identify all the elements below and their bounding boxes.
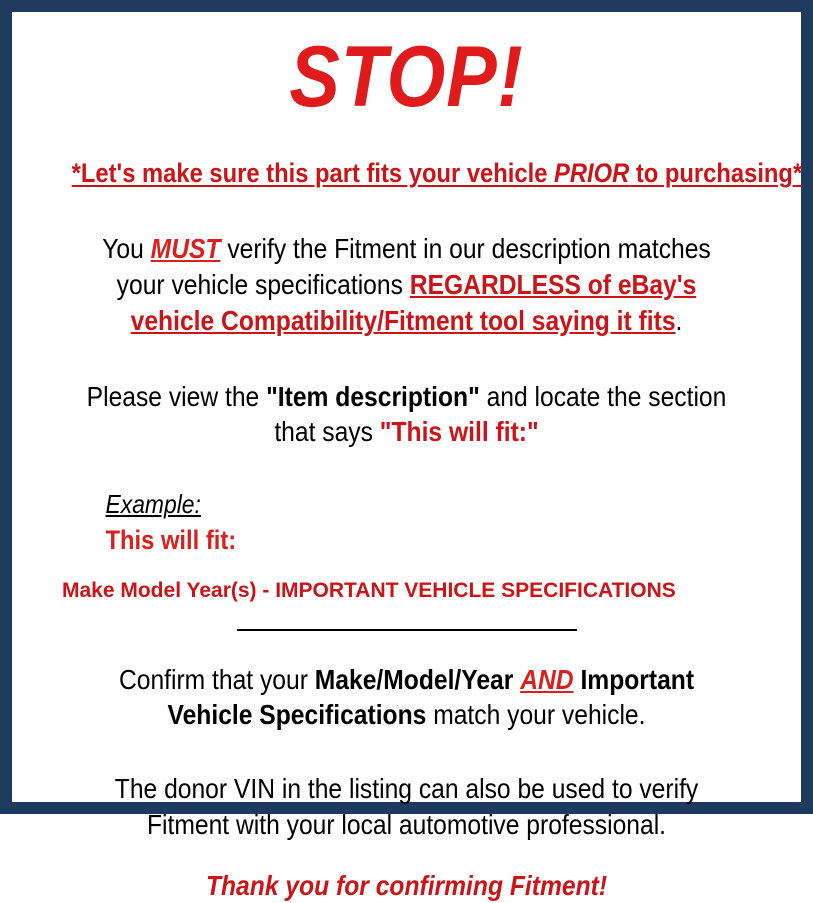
paragraph-must-verify: You MUST verify the Fitment in our descr… — [72, 231, 742, 338]
tagline-text-before: *Let's make sure this part fits your veh… — [72, 158, 554, 188]
must-text-3: . — [676, 305, 683, 336]
must-text-1: You — [102, 233, 150, 264]
example-block: Example: This will fit: Make Model Year(… — [26, 490, 787, 603]
emphasis-make-model-year: Make/Model/Year — [315, 664, 514, 695]
confirm-space-1 — [513, 664, 520, 695]
thank-you-message: Thank you for confirming Fitment! — [72, 869, 742, 903]
section-divider — [26, 622, 787, 636]
emphasis-item-description: "Item description" — [266, 381, 480, 412]
paragraph-donor-vin: The donor VIN in the listing can also be… — [72, 771, 742, 843]
tagline-emphasis-prior: PRIOR — [554, 158, 629, 188]
emphasis-and: AND — [520, 664, 573, 695]
example-spec-line: Make Model Year(s) - IMPORTANT VEHICLE S… — [62, 578, 787, 603]
confirm-text-1: Confirm that your — [119, 664, 315, 695]
notice-content: STOP! *Let's make sure this part fits yo… — [12, 12, 801, 802]
example-fit-header: This will fit: — [106, 524, 744, 556]
example-label: Example: — [106, 490, 744, 520]
view-text-1: Please view the — [87, 381, 266, 412]
confirm-text-2: match your vehicle. — [426, 699, 645, 730]
paragraph-confirm: Confirm that your Make/Model/Year AND Im… — [72, 662, 742, 734]
stop-headline: STOP! — [72, 34, 742, 120]
fitment-notice-frame: STOP! *Let's make sure this part fits yo… — [0, 0, 813, 814]
paragraph-view-description: Please view the "Item description" and l… — [72, 379, 742, 451]
divider-line — [237, 629, 577, 631]
fitment-tagline: *Let's make sure this part fits your veh… — [72, 158, 742, 189]
emphasis-this-will-fit: "This will fit:" — [380, 416, 539, 447]
emphasis-must: MUST — [151, 233, 221, 264]
tagline-text-after: to purchasing* — [629, 158, 802, 188]
